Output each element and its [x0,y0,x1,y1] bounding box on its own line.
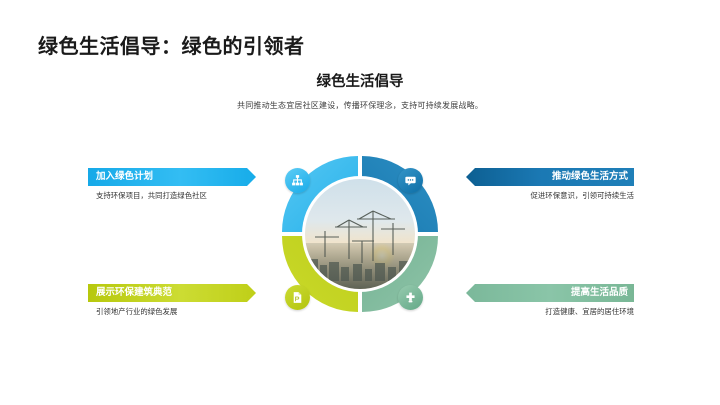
callout-title-bottom-left: 展示环保建筑典范 [88,284,256,302]
sitemap-icon[interactable] [285,168,310,193]
callout-bottom-left[interactable]: 展示环保建筑典范 引领地产行业的绿色发展 [88,284,256,317]
callout-bottom-right[interactable]: 提高生活品质 打造健康、宜居的居住环境 [466,284,634,317]
chat-bubble-icon[interactable] [398,168,423,193]
center-photo [305,179,415,289]
callout-desc-bottom-right: 打造健康、宜居的居住环境 [482,306,634,317]
callout-title-top-right: 推动绿色生活方式 [466,168,634,186]
section-title: 绿色生活倡导 [0,70,720,91]
callout-title-bottom-right: 提高生活品质 [466,284,634,302]
slide-canvas: 绿色生活倡导：绿色的引领者 绿色生活倡导 共同推动生态宜居社区建设，传播环保理念… [0,0,720,405]
section-subtitle: 共同推动生态宜居社区建设，传播环保理念，支持可持续发展战略。 [0,100,720,111]
page-title: 绿色生活倡导：绿色的引领者 [38,30,305,59]
callout-desc-bottom-left: 引领地产行业的绿色发展 [96,306,248,317]
plus-cross-icon[interactable] [398,285,423,310]
callout-desc-top-right: 促进环保意识，引领可持续生活 [482,190,634,201]
callout-title-top-left: 加入绿色计划 [88,168,256,186]
callout-desc-top-left: 支持环保项目，共同打造绿色社区 [96,190,248,201]
callout-top-left[interactable]: 加入绿色计划 支持环保项目，共同打造绿色社区 [88,168,256,201]
crane-silhouettes [305,179,415,289]
document-icon[interactable] [285,285,310,310]
callout-top-right[interactable]: 推动绿色生活方式 促进环保意识，引领可持续生活 [466,168,634,201]
